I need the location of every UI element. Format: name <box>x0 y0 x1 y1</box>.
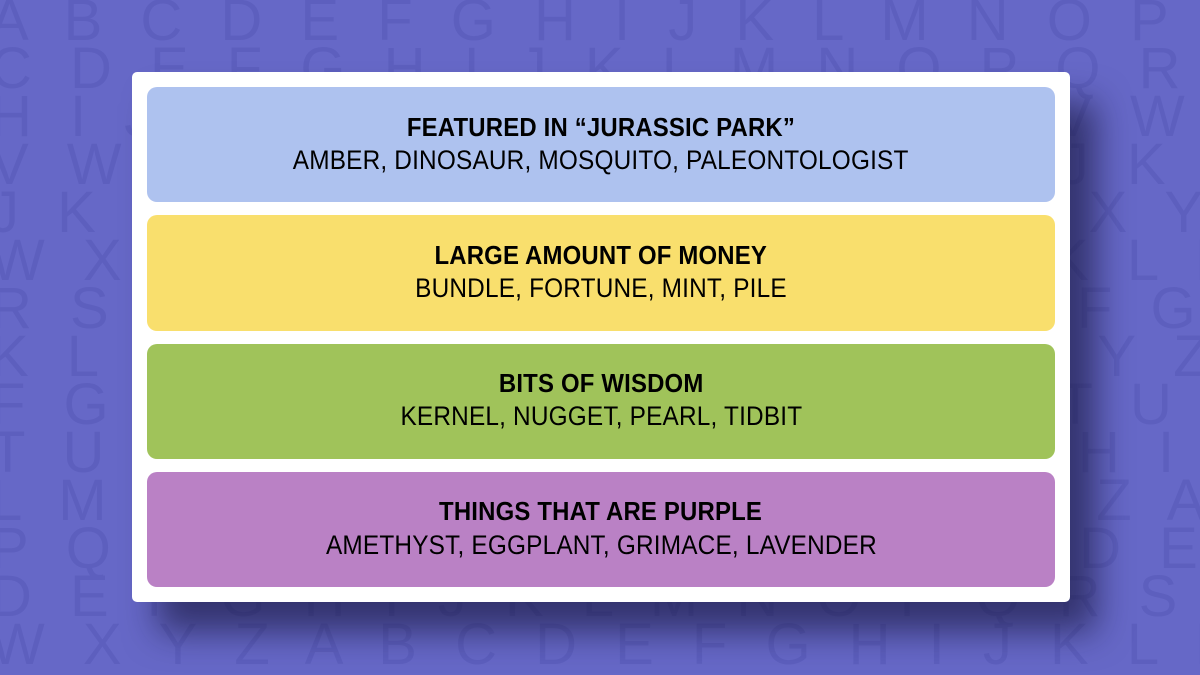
category-row-things-that-are-purple: THINGS THAT ARE PURPLEAMETHYST, EGGPLANT… <box>147 472 1055 587</box>
screenshot-stage: A B C D E F G H I J K L M N O P Q R S T … <box>0 0 1200 675</box>
category-row-large-amount-of-money: LARGE AMOUNT OF MONEYBUNDLE, FORTUNE, MI… <box>147 215 1055 330</box>
category-title: LARGE AMOUNT OF MONEY <box>435 241 768 270</box>
category-title: FEATURED IN “JURASSIC PARK” <box>407 113 795 142</box>
category-row-bits-of-wisdom: BITS OF WISDOMKERNEL, NUGGET, PEARL, TID… <box>147 344 1055 459</box>
category-row-jurassic-park: FEATURED IN “JURASSIC PARK”AMBER, DINOSA… <box>147 87 1055 202</box>
category-words: AMBER, DINOSAUR, MOSQUITO, PALEONTOLOGIS… <box>293 145 909 177</box>
category-words: BUNDLE, FORTUNE, MINT, PILE <box>415 273 787 305</box>
category-words: AMETHYST, EGGPLANT, GRIMACE, LAVENDER <box>326 530 877 562</box>
category-title: BITS OF WISDOM <box>499 369 704 398</box>
category-title: THINGS THAT ARE PURPLE <box>439 497 762 526</box>
background-letter-row: A B C D E F G H I J K L M N O P Q R S T … <box>0 0 1200 50</box>
connections-answer-card: FEATURED IN “JURASSIC PARK”AMBER, DINOSA… <box>132 72 1070 602</box>
background-letter-row: W X Y Z A B C D E F G H I J K L M N O P … <box>0 616 1200 674</box>
category-words: KERNEL, NUGGET, PEARL, TIDBIT <box>400 401 802 433</box>
